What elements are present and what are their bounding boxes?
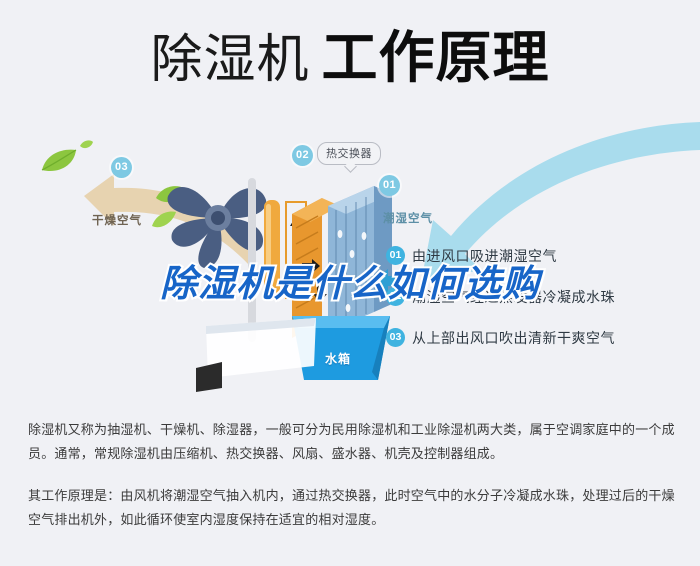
page-title: 除湿机工作原理 bbox=[0, 30, 700, 86]
article-body: 除湿机又称为抽湿机、干燥机、除湿器，一般可分为民用除湿机和工业除湿机两大类，属于… bbox=[28, 418, 676, 550]
body-paragraph-1: 除湿机又称为抽湿机、干燥机、除湿器，一般可分为民用除湿机和工业除湿机两大类，属于… bbox=[28, 418, 676, 466]
humid-air-label: 潮湿空气 bbox=[383, 210, 433, 226]
machine-base-icon bbox=[196, 316, 326, 394]
diagram-badge-03: 03 bbox=[111, 157, 132, 178]
body-paragraph-2: 其工作原理是：由风机将潮湿空气抽入机内，通过热交换器，此时空气中的水分子冷凝成水… bbox=[28, 484, 676, 532]
list-item: 03 从上部出风口吹出清新干爽空气 bbox=[386, 325, 686, 350]
step-number-badge: 03 bbox=[386, 328, 405, 347]
water-tank-label: 水箱 bbox=[325, 350, 351, 367]
step-text: 从上部出风口吹出清新干爽空气 bbox=[412, 328, 615, 348]
infographic-page: 除湿机工作原理 bbox=[0, 0, 700, 566]
leaf-icon bbox=[36, 140, 96, 180]
diagram-badge-02: 02 bbox=[292, 145, 313, 166]
steps-list: 01 由进风口吸进潮湿空气 02 潮湿空气经过蒸发器冷凝成水珠 03 从上部出风… bbox=[386, 243, 686, 366]
overlay-headline: 除湿机是什么如何选购 bbox=[0, 264, 700, 304]
page-title-light: 除湿机 bbox=[150, 31, 309, 89]
diagram-badge-01: 01 bbox=[379, 175, 400, 196]
dry-air-label: 干燥空气 bbox=[92, 212, 142, 228]
heat-exchanger-callout: 热交换器 bbox=[317, 142, 381, 165]
page-title-bold: 工作原理 bbox=[322, 26, 550, 89]
